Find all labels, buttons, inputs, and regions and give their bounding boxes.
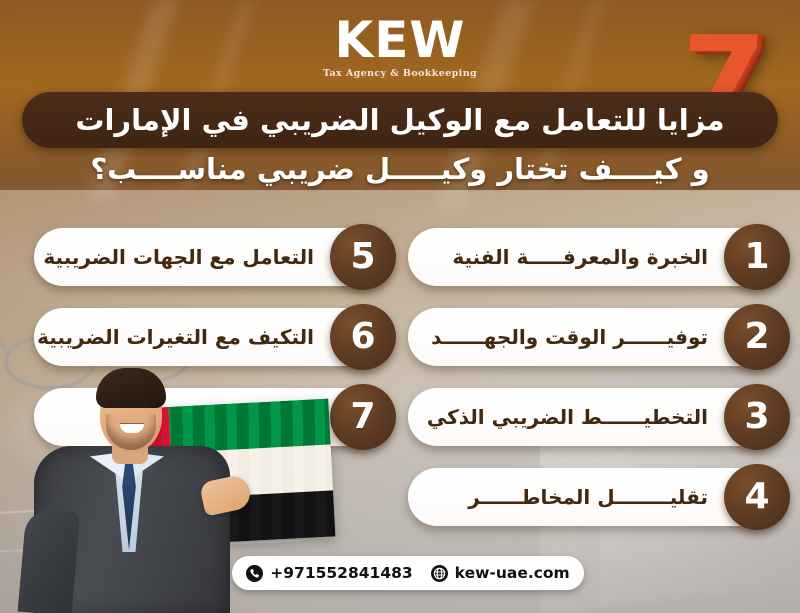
benefit-label: التخطيــــــط الضريبي الذكي	[427, 405, 714, 429]
benefit-label: الخبرة والمعرفـــــة الفنية	[452, 245, 714, 269]
benefit-number: 4	[744, 479, 769, 515]
benefit-label: التعامل مع الجهات الضريبية	[43, 245, 320, 269]
phone-icon	[246, 565, 263, 582]
benefit-card[interactable]: 3 التخطيــــــط الضريبي الذكي	[408, 388, 784, 446]
benefit-number: 1	[744, 239, 769, 275]
benefit-label: التكيف مع التغيرات الضريبية	[37, 325, 320, 349]
benefit-number: 2	[744, 319, 769, 355]
benefit-card[interactable]: 4 تقليــــــــل المخاطــــــر	[408, 468, 784, 526]
benefit-number-badge: 3	[724, 384, 790, 450]
subheadline: و كيــــف تختار وكيـــــل ضريبي مناســــ…	[0, 152, 800, 186]
eye	[115, 404, 123, 408]
website-url: kew-uae.com	[455, 564, 570, 582]
benefits-right-column: 1 الخبرة والمعرفـــــة الفنية 2 توفيــــ…	[408, 228, 784, 548]
benefit-number-badge: 1	[724, 224, 790, 290]
benefit-number-badge: 7	[330, 384, 396, 450]
benefit-card[interactable]: 1 الخبرة والمعرفـــــة الفنية	[408, 228, 784, 286]
logo-tagline: Tax Agency & Bookkeeping	[0, 68, 800, 79]
eye	[140, 404, 148, 408]
benefit-number-badge: 2	[724, 304, 790, 370]
benefit-card[interactable]: 6 التكيف مع التغيرات الضريبية	[34, 308, 390, 366]
benefit-label: تقليــــــــل المخاطــــــر	[468, 485, 714, 509]
phone-number: +971552841483	[270, 564, 412, 582]
benefit-number-badge: 4	[724, 464, 790, 530]
benefit-number-badge: 5	[330, 224, 396, 290]
logo-wordmark: KEW	[334, 14, 465, 66]
globe-icon	[431, 565, 448, 582]
arm	[18, 508, 81, 613]
benefit-number: 6	[350, 319, 375, 355]
benefit-card[interactable]: 5 التعامل مع الجهات الضريبية	[34, 228, 390, 286]
headline-text: مزايا للتعامل مع الوكيل الضريبي في الإما…	[75, 103, 724, 137]
brand-logo: KEW Tax Agency & Bookkeeping	[0, 14, 800, 79]
businessman-photo	[16, 360, 246, 613]
headline-banner: مزايا للتعامل مع الوكيل الضريبي في الإما…	[22, 92, 778, 148]
benefit-number: 7	[350, 399, 375, 435]
hair	[96, 368, 166, 408]
benefit-card[interactable]: 2 توفيــــــر الوقت والجهــــــد	[408, 308, 784, 366]
benefit-number-badge: 6	[330, 304, 396, 370]
infographic-poster: KEW Tax Agency & Bookkeeping 7 مزايا للت…	[0, 0, 800, 613]
contact-website[interactable]: kew-uae.com	[431, 564, 570, 582]
contact-bar: +971552841483 kew-uae.com	[232, 556, 584, 590]
benefit-number: 5	[350, 239, 375, 275]
contact-phone[interactable]: +971552841483	[246, 564, 412, 582]
benefit-number: 3	[744, 399, 769, 435]
benefit-label: توفيــــــر الوقت والجهــــــد	[431, 325, 714, 349]
subheadline-text: و كيــــف تختار وكيـــــل ضريبي مناســــ…	[0, 152, 800, 186]
